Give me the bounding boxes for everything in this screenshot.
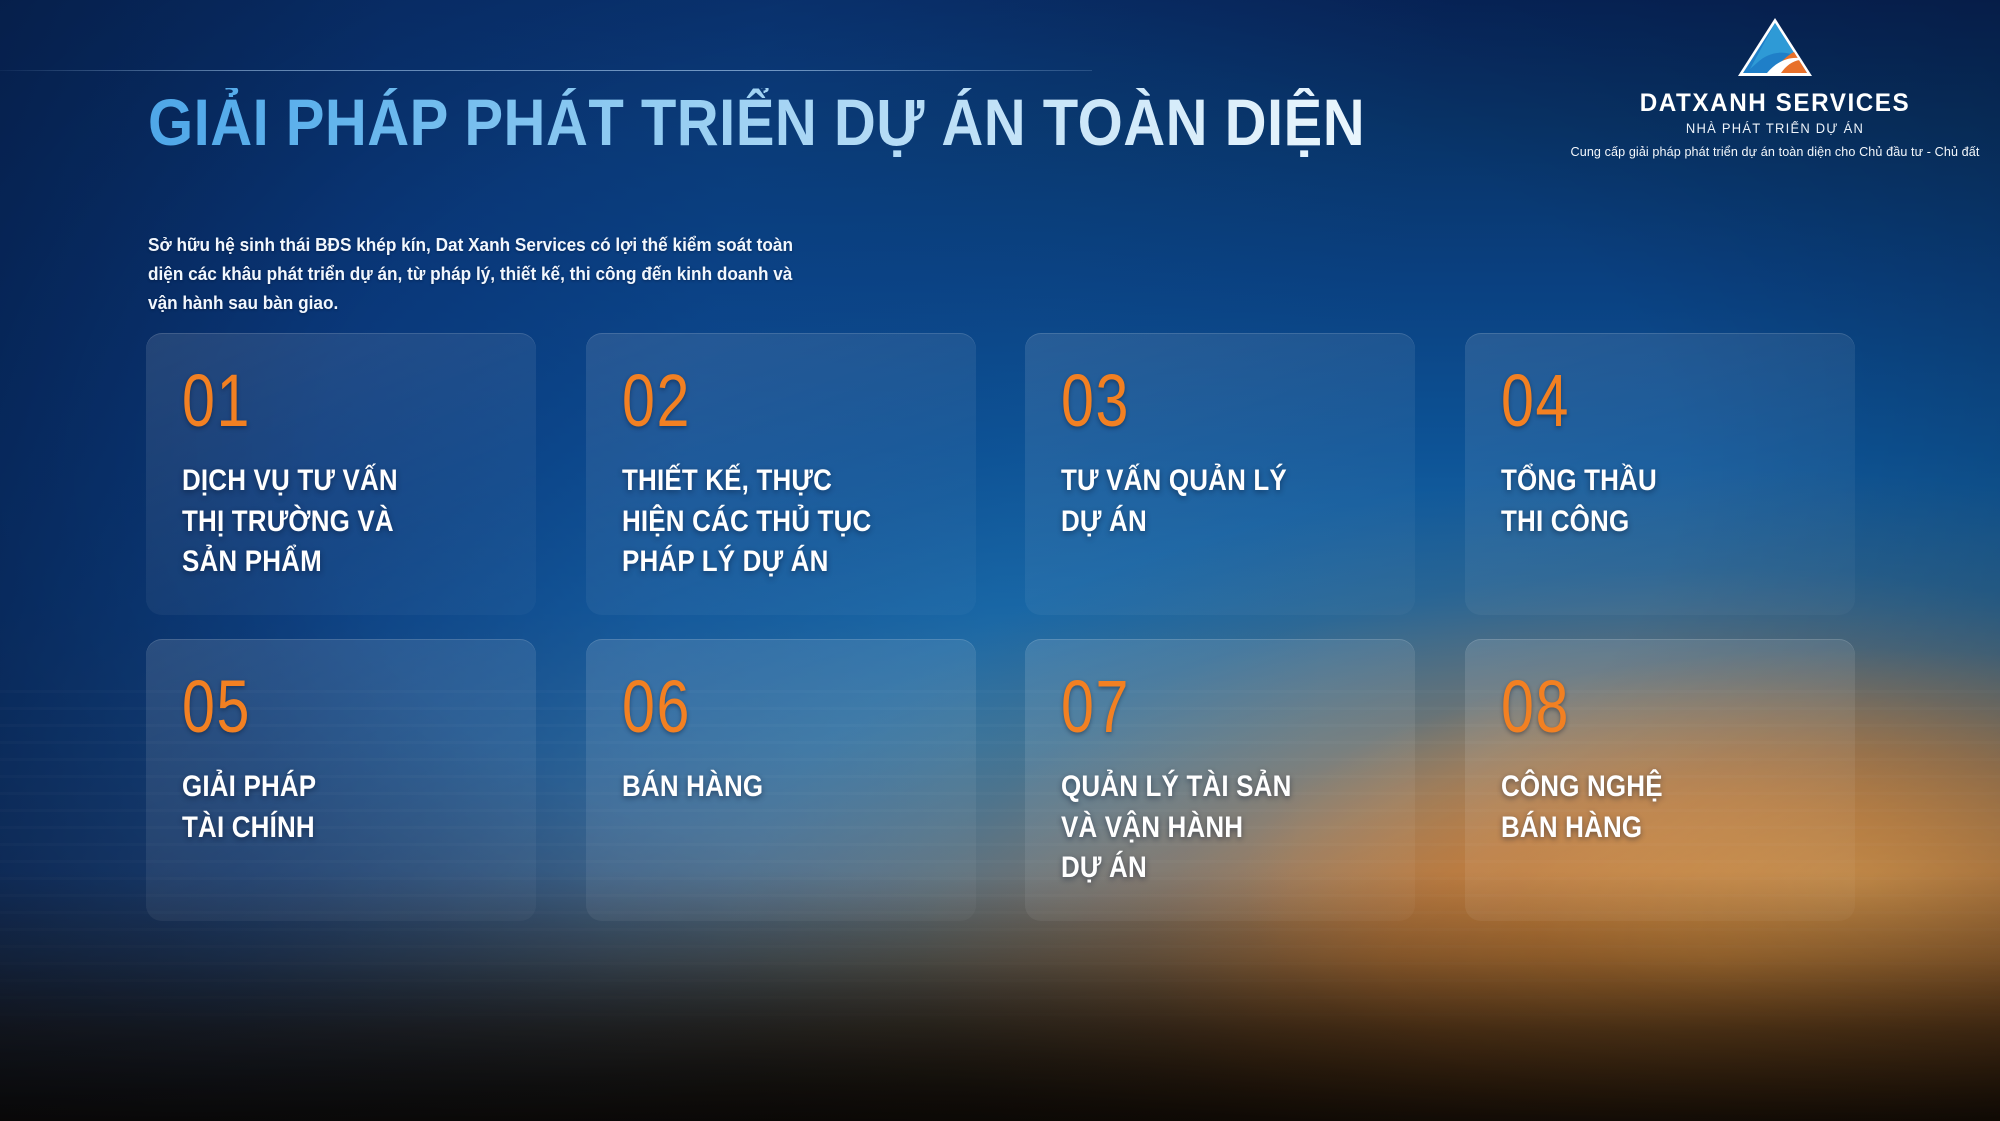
card-number: 08	[1501, 673, 1760, 741]
page-subtitle: Sở hữu hệ sinh thái BĐS khép kín, Dat Xa…	[148, 230, 799, 318]
card-number: 01	[182, 367, 441, 435]
brand-logo: DATXANH SERVICES NHÀ PHÁT TRIỂN DỰ ÁN Cu…	[1565, 16, 1985, 159]
card-title: CÔNG NGHỆ BÁN HÀNG	[1501, 767, 1786, 848]
card-number: 04	[1501, 367, 1760, 435]
logo-company-name: DATXANH SERVICES	[1571, 89, 1978, 118]
card-title: DỊCH VỤ TƯ VẤN THỊ TRƯỜNG VÀ SẢN PHẨM	[182, 461, 467, 583]
card-title: QUẢN LÝ TÀI SẢN VÀ VẬN HÀNH DỰ ÁN	[1061, 767, 1346, 889]
card-number: 07	[1061, 673, 1320, 741]
card-number: 05	[182, 673, 441, 741]
card-number: 06	[622, 673, 881, 741]
header-divider-line	[0, 70, 1092, 71]
card-title: TỔNG THẦU THI CÔNG	[1501, 461, 1786, 542]
solution-card-04[interactable]: 04 TỔNG THẦU THI CÔNG	[1465, 333, 1855, 615]
solution-card-06[interactable]: 06 BÁN HÀNG	[586, 639, 976, 921]
card-number: 03	[1061, 367, 1320, 435]
card-title: BÁN HÀNG	[622, 767, 907, 808]
solution-card-05[interactable]: 05 GIẢI PHÁP TÀI CHÍNH	[146, 639, 536, 921]
solution-card-08[interactable]: 08 CÔNG NGHỆ BÁN HÀNG	[1465, 639, 1855, 921]
solution-card-01[interactable]: 01 DỊCH VỤ TƯ VẤN THỊ TRƯỜNG VÀ SẢN PHẨM	[146, 333, 536, 615]
card-row-bottom: 05 GIẢI PHÁP TÀI CHÍNH 06 BÁN HÀNG 07 QU…	[146, 639, 1858, 921]
solution-card-grid: 01 DỊCH VỤ TƯ VẤN THỊ TRƯỜNG VÀ SẢN PHẨM…	[146, 333, 1858, 921]
datxanh-triangle-logo-icon	[1565, 16, 1985, 83]
card-row-top: 01 DỊCH VỤ TƯ VẤN THỊ TRƯỜNG VÀ SẢN PHẨM…	[146, 333, 1858, 615]
card-title: TƯ VẤN QUẢN LÝ DỰ ÁN	[1061, 461, 1346, 542]
page-title: GIẢI PHÁP PHÁT TRIỂN DỰ ÁN TOÀN DIỆN	[148, 88, 1365, 158]
logo-tagline: NHÀ PHÁT TRIỂN DỰ ÁN	[1573, 121, 1976, 136]
solution-card-02[interactable]: 02 THIẾT KẾ, THỰC HIỆN CÁC THỦ TỤC PHÁP …	[586, 333, 976, 615]
solution-card-07[interactable]: 07 QUẢN LÝ TÀI SẢN VÀ VẬN HÀNH DỰ ÁN	[1025, 639, 1415, 921]
card-number: 02	[622, 367, 881, 435]
infographic-slide: GIẢI PHÁP PHÁT TRIỂN DỰ ÁN TOÀN DIỆN Sở …	[0, 0, 2000, 1121]
card-title: GIẢI PHÁP TÀI CHÍNH	[182, 767, 467, 848]
logo-description: Cung cấp giải pháp phát triển dự án toàn…	[1565, 145, 1985, 159]
solution-card-03[interactable]: 03 TƯ VẤN QUẢN LÝ DỰ ÁN	[1025, 333, 1415, 615]
card-title: THIẾT KẾ, THỰC HIỆN CÁC THỦ TỤC PHÁP LÝ …	[622, 461, 907, 583]
